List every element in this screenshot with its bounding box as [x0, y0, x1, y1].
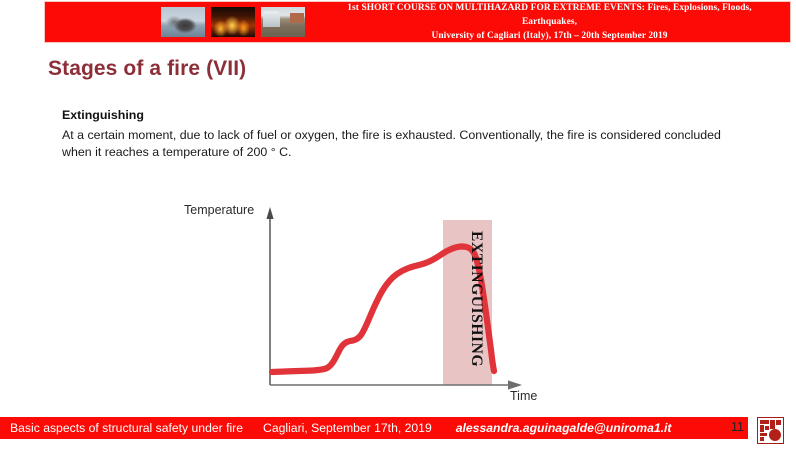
slide-body: Extinguishing At a certain moment, due t… — [62, 108, 762, 161]
x-axis-label: Time — [510, 389, 537, 403]
page-title: Stages of a fire (VII) — [48, 57, 246, 81]
section-heading-extinguishing: Extinguishing — [62, 108, 762, 122]
fire-photo — [211, 7, 255, 37]
flood-photo — [261, 7, 305, 37]
header-title-line-2: University of Cagliari (Italy), 17th – 2… — [319, 29, 780, 43]
y-axis-label: Temperature — [184, 203, 254, 217]
header-title-line-1: 1st SHORT COURSE ON MULTIHAZARD FOR EXTR… — [319, 1, 780, 29]
explosion-smoke-photo — [161, 7, 205, 37]
footer-bar: Basic aspects of structural safety under… — [0, 417, 748, 439]
footer-place-date: Cagliari, September 17th, 2019 — [263, 421, 432, 435]
fire-temperature-chart: Temperature Time EXTINGUISHING — [180, 195, 580, 410]
y-axis-arrow-icon — [266, 207, 273, 219]
logo-mark-icon — [758, 418, 783, 443]
header-course-title: 1st SHORT COURSE ON MULTIHAZARD FOR EXTR… — [305, 1, 790, 43]
extinguishing-band-label: EXTINGUISHING — [468, 231, 485, 367]
header-thumbnail-strip — [161, 7, 305, 37]
sapienza-university-logo — [757, 417, 784, 444]
chart-svg: Temperature Time EXTINGUISHING — [180, 195, 580, 410]
footer-email-link[interactable]: alessandra.aguinagalde@uniroma1.it — [456, 421, 672, 435]
section-paragraph: At a certain moment, due to lack of fuel… — [62, 127, 752, 161]
page-number: 11 — [731, 420, 744, 434]
footer-course-title: Basic aspects of structural safety under… — [10, 421, 243, 435]
header-banner: 1st SHORT COURSE ON MULTIHAZARD FOR EXTR… — [45, 2, 790, 42]
